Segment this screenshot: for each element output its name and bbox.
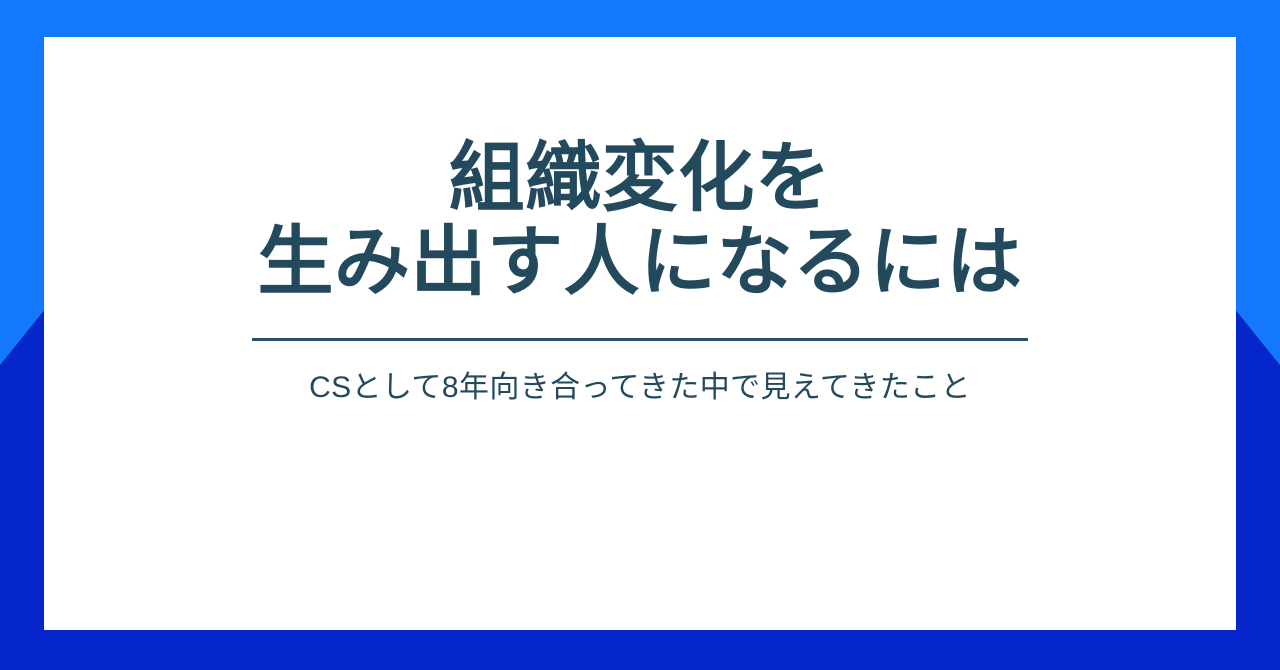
page-title: 組織変化を 生み出す人になるには <box>258 137 1023 305</box>
slide-canvas: 組織変化を 生み出す人になるには CSとして8年向き合ってきた中で見えてきたこと <box>0 0 1280 670</box>
title-card-content: 組織変化を 生み出す人になるには CSとして8年向き合ってきた中で見えてきたこと <box>44 37 1236 630</box>
title-divider <box>252 338 1028 341</box>
title-card: 組織変化を 生み出す人になるには CSとして8年向き合ってきた中で見えてきたこと <box>44 37 1236 630</box>
page-subtitle: CSとして8年向き合ってきた中で見えてきたこと <box>309 367 971 409</box>
